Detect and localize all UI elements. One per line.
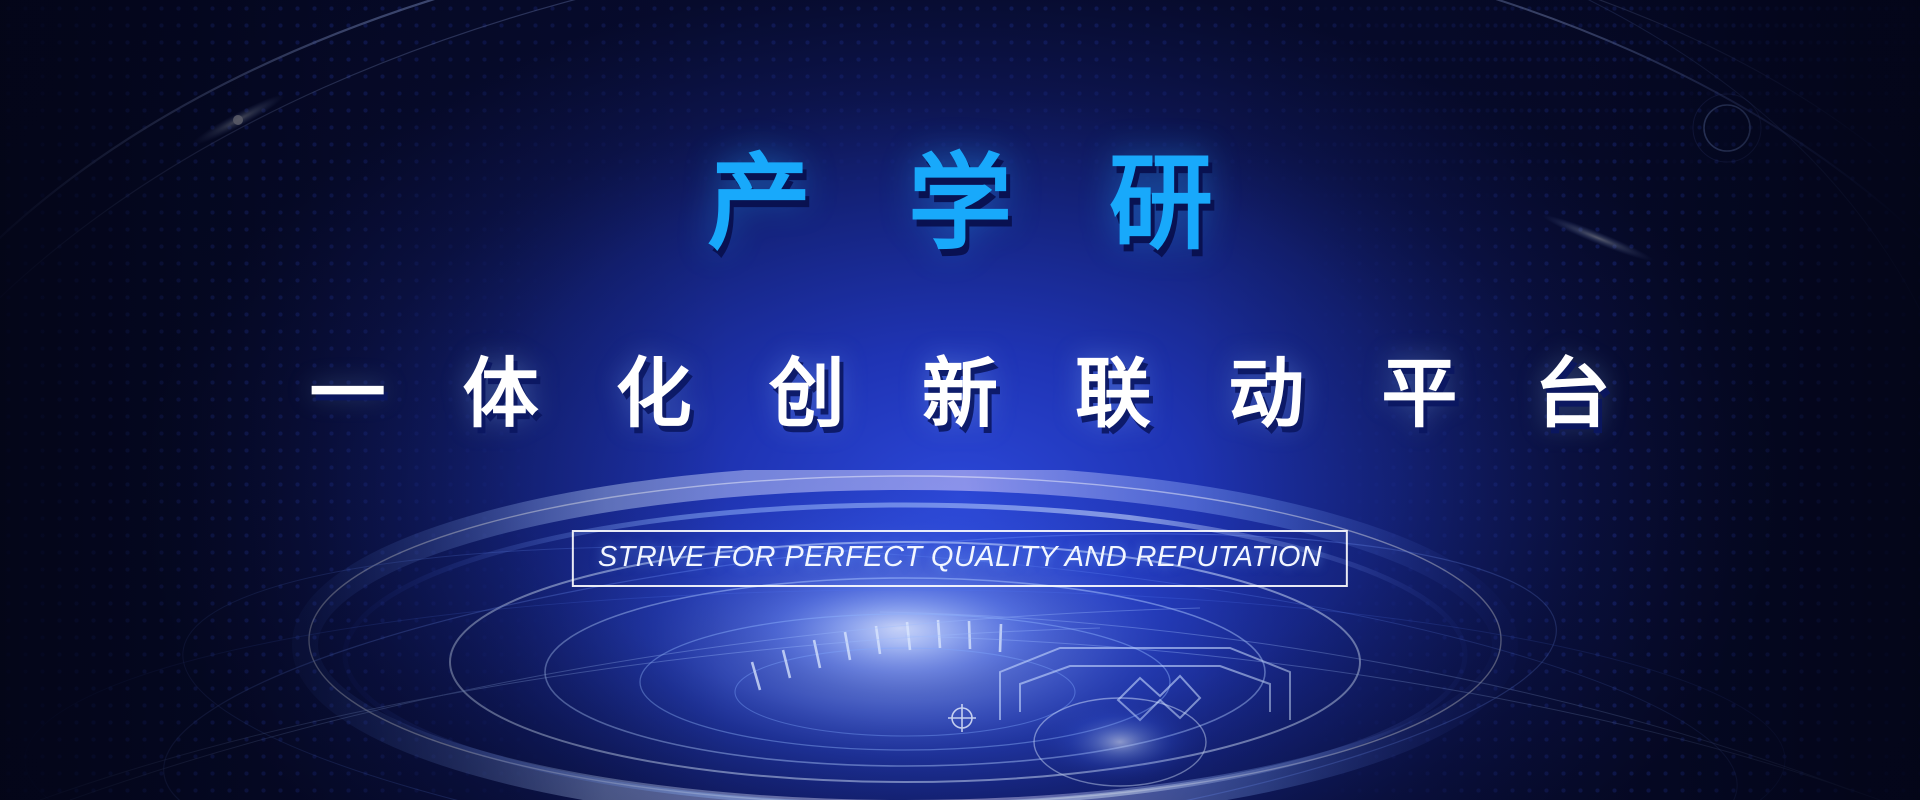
english-tagline-box: STRIVE FOR PERFECT QUALITY AND REPUTATIO… (572, 530, 1348, 587)
hero-banner: 产 学 研 一 体 化 创 新 联 动 平 台 STRIVE FOR PERFE… (0, 0, 1920, 800)
english-tagline: STRIVE FOR PERFECT QUALITY AND REPUTATIO… (598, 541, 1322, 574)
banner-subtitle-cn: 一 体 化 创 新 联 动 平 台 (0, 355, 1920, 435)
banner-title: 产 学 研 (0, 150, 1920, 259)
banner-content: 产 学 研 一 体 化 创 新 联 动 平 台 STRIVE FOR PERFE… (0, 0, 1920, 800)
